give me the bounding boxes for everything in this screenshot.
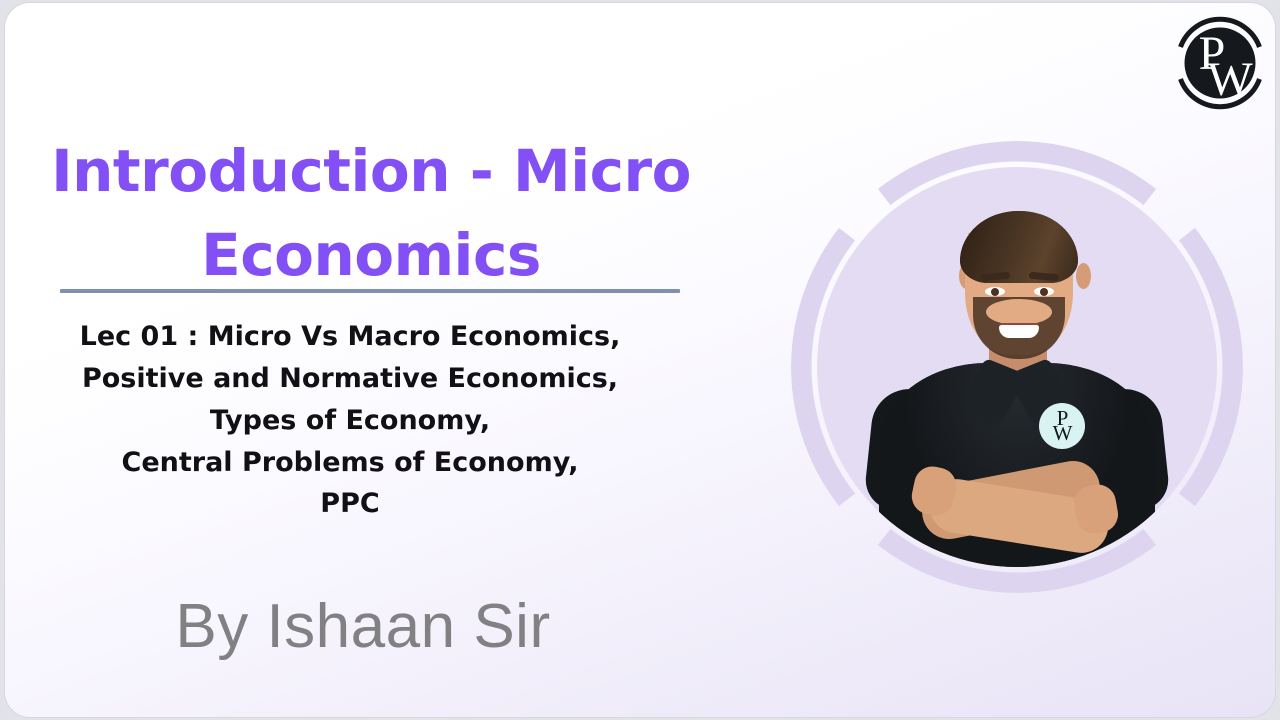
lecture-topics-list: Lec 01 : Micro Vs Macro Economics, Posit…	[33, 316, 667, 525]
topic-line-2: Positive and Normative Economics,	[33, 358, 667, 400]
topic-line-5: PPC	[33, 483, 667, 525]
instructor-portrait-medallion: P W COMMERCEWALLAH	[791, 141, 1243, 593]
title-divider-rule	[60, 289, 680, 293]
page-title: Introduction - Micro Economics	[35, 129, 707, 297]
shirt-badge-letter-w: W	[1053, 426, 1072, 441]
shirt-pw-badge-icon: P W	[1039, 403, 1085, 449]
lecture-title-slide: Introduction - Micro Economics Lec 01 : …	[4, 2, 1276, 718]
portrait-disc: P W COMMERCEWALLAH	[817, 167, 1217, 567]
ear-right	[1076, 263, 1091, 289]
physics-wallah-logo-icon: P W	[1168, 11, 1272, 115]
topic-line-1: Lec 01 : Micro Vs Macro Economics,	[33, 316, 667, 358]
svg-text:W: W	[1207, 53, 1253, 106]
topic-line-3: Types of Economy,	[33, 400, 667, 442]
eye-right	[1034, 287, 1054, 296]
instructor-photo: P W COMMERCEWALLAH	[817, 167, 1217, 567]
text-column: Introduction - Micro Economics Lec 01 : …	[5, 3, 735, 718]
smile	[999, 325, 1039, 338]
hair	[960, 211, 1078, 283]
topic-line-4: Central Problems of Economy,	[33, 442, 667, 484]
presenter-byline: By Ishaan Sir	[33, 591, 693, 662]
eye-left	[985, 287, 1005, 296]
